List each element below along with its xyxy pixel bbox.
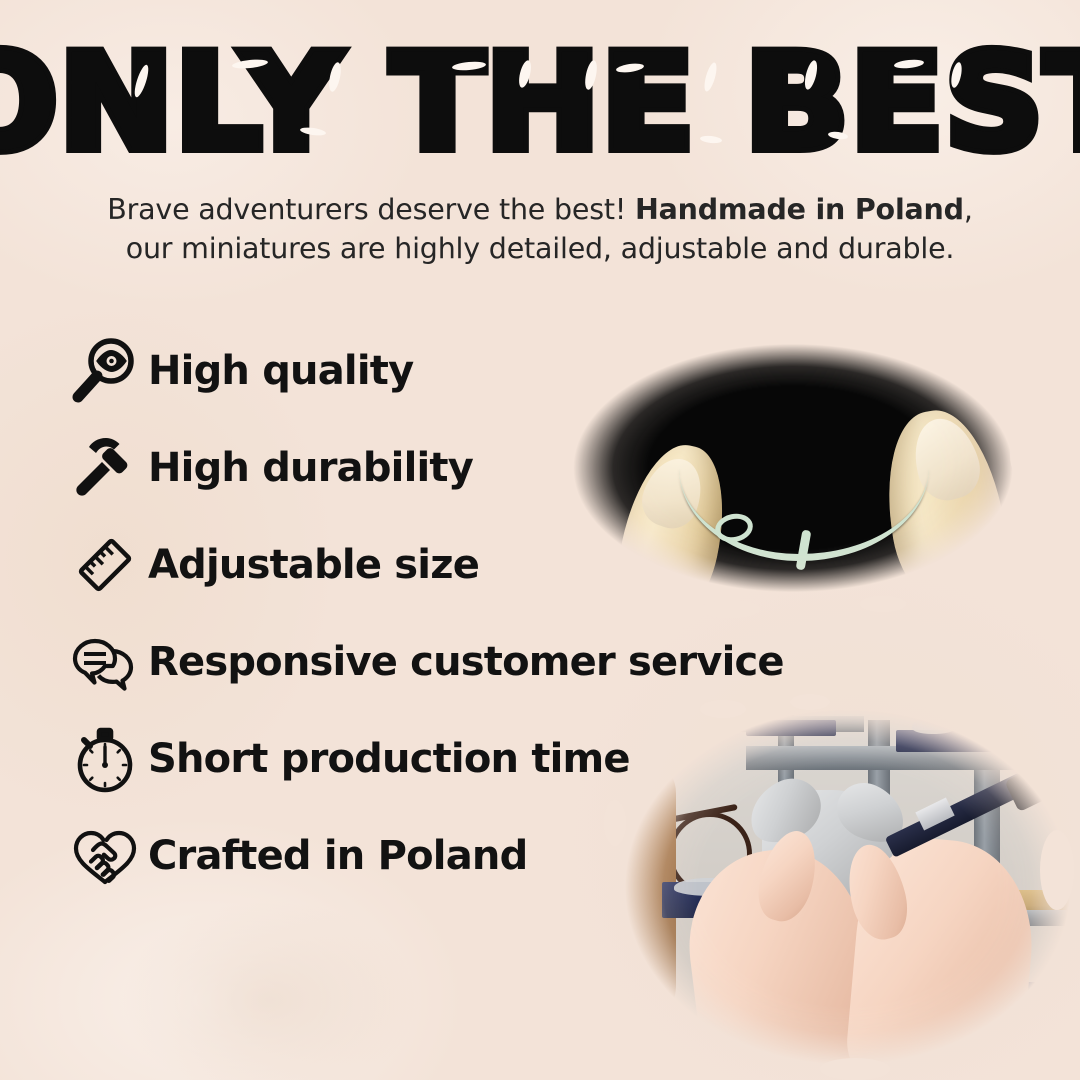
background-wash — [120, 900, 420, 1080]
feature-label: Short production time — [148, 736, 630, 782]
feature-label: Adjustable size — [148, 542, 479, 588]
feature-item-crafted-in-poland[interactable]: Crafted in Poland — [62, 807, 782, 904]
headline-text: ONLY THE BEST — [0, 36, 1080, 168]
feature-item-high-quality[interactable]: High quality — [62, 322, 782, 419]
hammer-icon — [62, 425, 148, 511]
feature-label: High durability — [148, 445, 473, 491]
feature-item-short-production-time[interactable]: Short production time — [62, 710, 782, 807]
feature-item-high-durability[interactable]: High durability — [62, 419, 782, 516]
poster-root: ONLY THE BEST Brave adventurers deserve … — [0, 0, 1080, 1080]
ruler-icon — [62, 522, 148, 608]
subtitle: Brave adventurers deserve the best! Hand… — [90, 190, 990, 269]
paint-brush-cap — [1004, 766, 1051, 812]
stopwatch-icon — [62, 716, 148, 802]
parts-tray — [896, 730, 1066, 752]
feature-label: Responsive customer service — [148, 639, 784, 685]
subtitle-line-1: Brave adventurers deserve the best! Hand… — [107, 193, 972, 226]
subtitle-plain: Brave adventurers deserve the best! — [107, 193, 635, 226]
speech-bubbles-icon — [62, 619, 148, 705]
feature-label: High quality — [148, 348, 413, 394]
feature-item-responsive-customer-service[interactable]: Responsive customer service — [62, 613, 782, 710]
subtitle-bold-handmade: Handmade in Poland — [635, 193, 964, 226]
feature-list: High quality High durability — [62, 322, 782, 904]
subtitle-line-2: our miniatures are highly detailed, adju… — [126, 232, 955, 265]
feature-item-adjustable-size[interactable]: Adjustable size — [62, 516, 782, 613]
feature-label: Crafted in Poland — [148, 833, 527, 879]
subtitle-comma: , — [964, 193, 973, 226]
handshake-heart-icon — [62, 813, 148, 899]
magnifier-eye-icon — [62, 328, 148, 414]
headline: ONLY THE BEST — [0, 36, 1080, 154]
